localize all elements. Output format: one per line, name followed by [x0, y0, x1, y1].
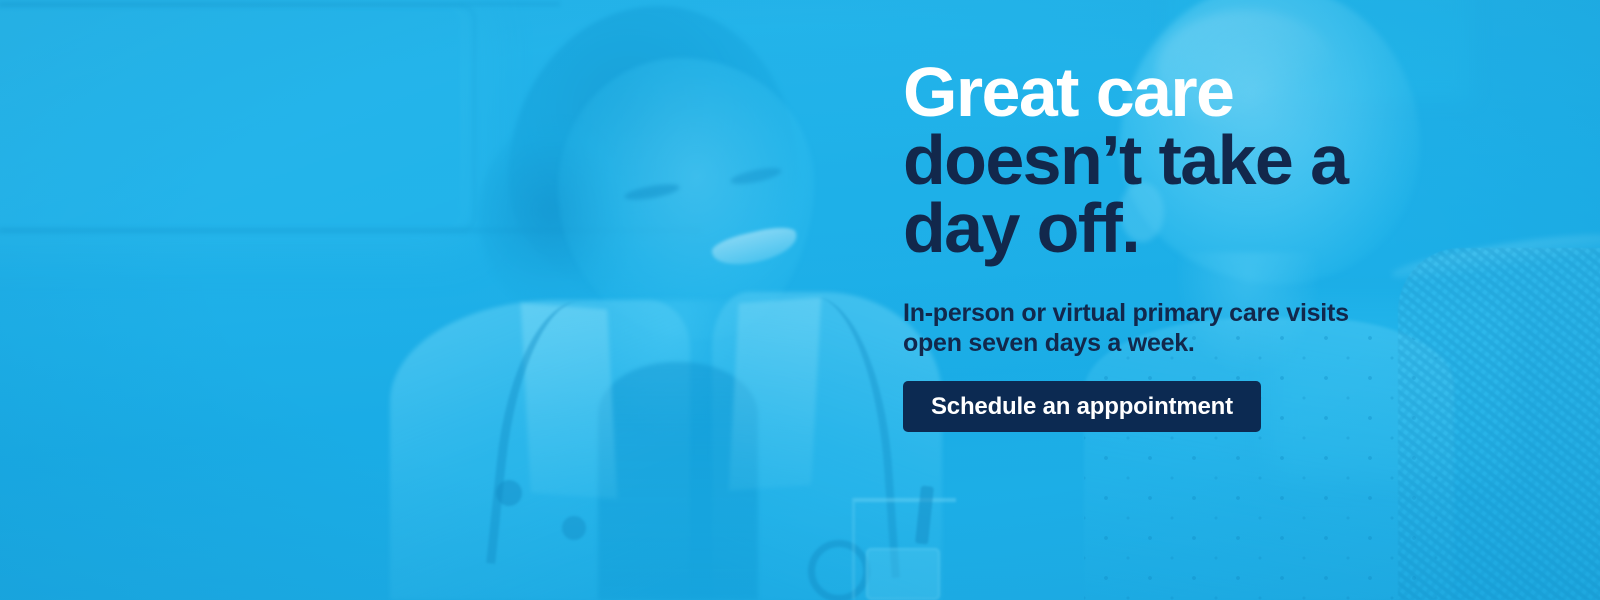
stethoscope-eartip-right: [562, 516, 586, 540]
doctor-figure: [330, 0, 930, 600]
hero-content: Great care doesn’t take a day off. In-pe…: [903, 0, 1523, 600]
page-title: Great care doesn’t take a day off.: [903, 58, 1523, 262]
subheading-line-1: In-person or virtual primary care visits: [903, 298, 1463, 328]
hero-subheading: In-person or virtual primary care visits…: [903, 298, 1463, 358]
headline-line-1: Great care: [903, 58, 1523, 126]
hero-banner: Great care doesn’t take a day off. In-pe…: [0, 0, 1600, 600]
subheading-line-2: open seven days a week.: [903, 328, 1463, 358]
headline-line-3: day off.: [903, 194, 1523, 262]
headline-line-2: doesn’t take a: [903, 126, 1523, 194]
stethoscope-eartip-left: [496, 480, 522, 506]
schedule-appointment-button[interactable]: Schedule an apppointment: [903, 381, 1261, 432]
